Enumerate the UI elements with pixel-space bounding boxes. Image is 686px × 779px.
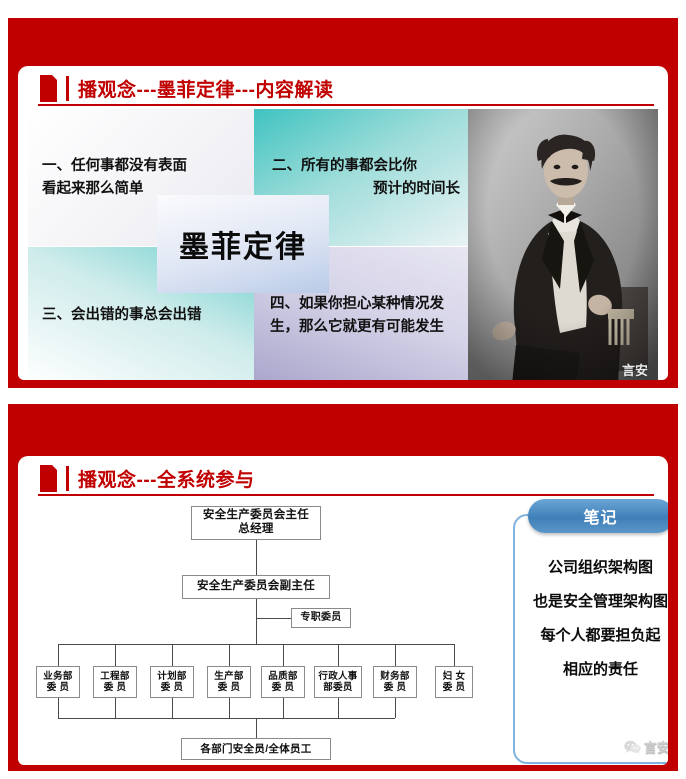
quadrant-four-line-2: 生，那么它就更有可能发生 — [270, 316, 472, 338]
watermark-slide-1: 言安 — [602, 360, 648, 379]
org-node-vice-chairman-label: 安全生产委员会副主任 — [197, 580, 315, 594]
slide-1-white-panel: 播观念---墨菲定律---内容解读 一、任何事都没有表面 看起来那么简单 二、所… — [18, 66, 668, 380]
slide-2-header: 播观念---全系统参与 — [18, 456, 668, 496]
connector-line — [172, 698, 173, 718]
slide-1-title: 播观念---墨菲定律---内容解读 — [78, 75, 333, 102]
org-node-vice-chairman: 安全生产委员会副主任 — [182, 575, 330, 599]
vintage-portrait-photo: 言安 — [468, 109, 658, 380]
watermark-slide-2: 言安 — [624, 737, 668, 756]
org-node-department: 财务部 委 员 — [373, 666, 417, 698]
org-node-full-time-member-label: 专职委员 — [300, 612, 341, 624]
connector-line — [256, 718, 257, 738]
org-node-department-line-2: 委 员 — [104, 682, 127, 693]
connector-line — [395, 644, 396, 666]
org-bus-bottom — [58, 718, 395, 719]
watermark-text: 言安 — [644, 737, 668, 756]
org-node-department: 生产部 委 员 — [207, 666, 251, 698]
slide-whole-system-participation: 播观念---全系统参与 安全生产委员会主任 总经理 安全生产委员会副主任 — [8, 404, 678, 771]
org-node-department-line-1: 品质部 — [268, 671, 297, 682]
org-node-department-line-2: 委 员 — [272, 682, 295, 693]
note-card-title: 笔记 — [583, 504, 617, 528]
org-node-department-line-2: 委 员 — [384, 682, 407, 693]
org-node-department: 计划部 委 员 — [150, 666, 194, 698]
note-line-3: 每个人都要担负起 — [540, 624, 660, 645]
slide-murphy-law: 播观念---墨菲定律---内容解读 一、任何事都没有表面 看起来那么简单 二、所… — [8, 18, 678, 388]
org-node-department: 工程部 委 员 — [93, 666, 137, 698]
connector-line — [172, 644, 173, 666]
org-node-chairman: 安全生产委员会主任 总经理 — [191, 506, 321, 540]
quadrant-four-line-1: 四、如果你担心某种情况发 — [270, 293, 472, 315]
slide-1-body: 一、任何事都没有表面 看起来那么简单 二、所有的事都会比你 预计的时间长 三、会… — [28, 109, 658, 374]
org-node-department-line-2: 委 员 — [218, 682, 241, 693]
org-node-department: 行政人事 部委员 — [314, 666, 362, 698]
slide-2-title: 播观念---全系统参与 — [78, 465, 254, 492]
org-node-department-line-1: 行政人事 — [318, 671, 357, 682]
header-accent-bar — [66, 466, 69, 491]
org-node-department: 业务部 委 员 — [36, 666, 80, 698]
connector-line — [229, 698, 230, 718]
murphy-law-center-card: 墨菲定律 — [157, 195, 329, 293]
org-node-department-line-1: 财务部 — [380, 671, 409, 682]
header-accent-bar — [66, 76, 69, 101]
org-node-department-line-1: 工程部 — [100, 671, 129, 682]
org-node-department: 妇 女 委 员 — [435, 666, 473, 698]
quadrant-three-line-1: 三、会出错的事总会出错 — [42, 304, 246, 326]
org-node-department-line-2: 委 员 — [443, 682, 466, 693]
org-node-department-line-2: 委 员 — [47, 682, 70, 693]
org-node-all-staff: 各部门安全员/全体员工 — [181, 738, 331, 760]
note-line-2: 也是安全管理架构图 — [533, 590, 668, 611]
wechat-icon — [602, 363, 619, 377]
org-node-department-line-1: 生产部 — [214, 671, 243, 682]
quadrant-two-line-1: 二、所有的事都会比你 — [272, 155, 472, 177]
note-card-lines: 公司组织架构图 也是安全管理架构图 每个人都要担负起 相应的责任 — [515, 556, 668, 679]
org-node-department-line-2: 委 员 — [161, 682, 184, 693]
note-line-1: 公司组织架构图 — [548, 556, 653, 577]
connector-line — [283, 644, 284, 666]
org-node-department-line-2: 部委员 — [323, 682, 352, 693]
note-card-title-pill: 笔记 — [528, 499, 669, 533]
connector-line — [256, 599, 257, 644]
connector-line — [395, 698, 396, 718]
connector-line — [229, 644, 230, 666]
note-line-4: 相应的责任 — [563, 658, 638, 679]
org-node-department-line-1: 业务部 — [43, 671, 72, 682]
connector-line — [338, 698, 339, 718]
murphy-law-center-label: 墨菲定律 — [179, 222, 307, 266]
org-node-full-time-member: 专职委员 — [291, 608, 351, 628]
connector-line — [115, 644, 116, 666]
quadrant-one-line-1: 一、任何事都没有表面 — [42, 155, 246, 177]
connector-line — [115, 698, 116, 718]
slide-1-header: 播观念---墨菲定律---内容解读 — [18, 66, 668, 106]
screenshot-page: 播观念---墨菲定律---内容解读 一、任何事都没有表面 看起来那么简单 二、所… — [0, 0, 686, 779]
red-flag-icon — [40, 465, 57, 492]
connector-line — [256, 618, 291, 619]
slide-2-white-panel: 播观念---全系统参与 安全生产委员会主任 总经理 安全生产委员会副主任 — [18, 456, 668, 765]
org-node-chairman-line-2: 总经理 — [238, 523, 273, 537]
murphy-quadrant-grid: 一、任何事都没有表面 看起来那么简单 二、所有的事都会比你 预计的时间长 三、会… — [28, 109, 480, 380]
red-flag-icon — [40, 75, 57, 102]
org-node-department: 品质部 委 员 — [261, 666, 305, 698]
slide-2-body: 安全生产委员会主任 总经理 安全生产委员会副主任 专职委员 — [18, 496, 668, 765]
org-node-all-staff-label: 各部门安全员/全体员工 — [200, 743, 311, 756]
slide-1-header-rule — [38, 104, 654, 106]
note-card: 笔记 公司组织架构图 也是安全管理架构图 每个人都要担负起 相应的责任 — [513, 514, 668, 764]
connector-line — [338, 644, 339, 666]
connector-line — [58, 698, 59, 718]
connector-line — [283, 698, 284, 718]
org-node-department-line-1: 计划部 — [157, 671, 186, 682]
wechat-icon — [624, 740, 641, 754]
org-chart: 安全生产委员会主任 总经理 安全生产委员会副主任 专职委员 — [26, 496, 486, 765]
connector-line — [454, 644, 455, 666]
connector-line — [256, 540, 257, 575]
org-node-department-line-1: 妇 女 — [443, 671, 466, 682]
connector-line — [58, 644, 59, 666]
org-node-chairman-line-1: 安全生产委员会主任 — [203, 509, 309, 523]
